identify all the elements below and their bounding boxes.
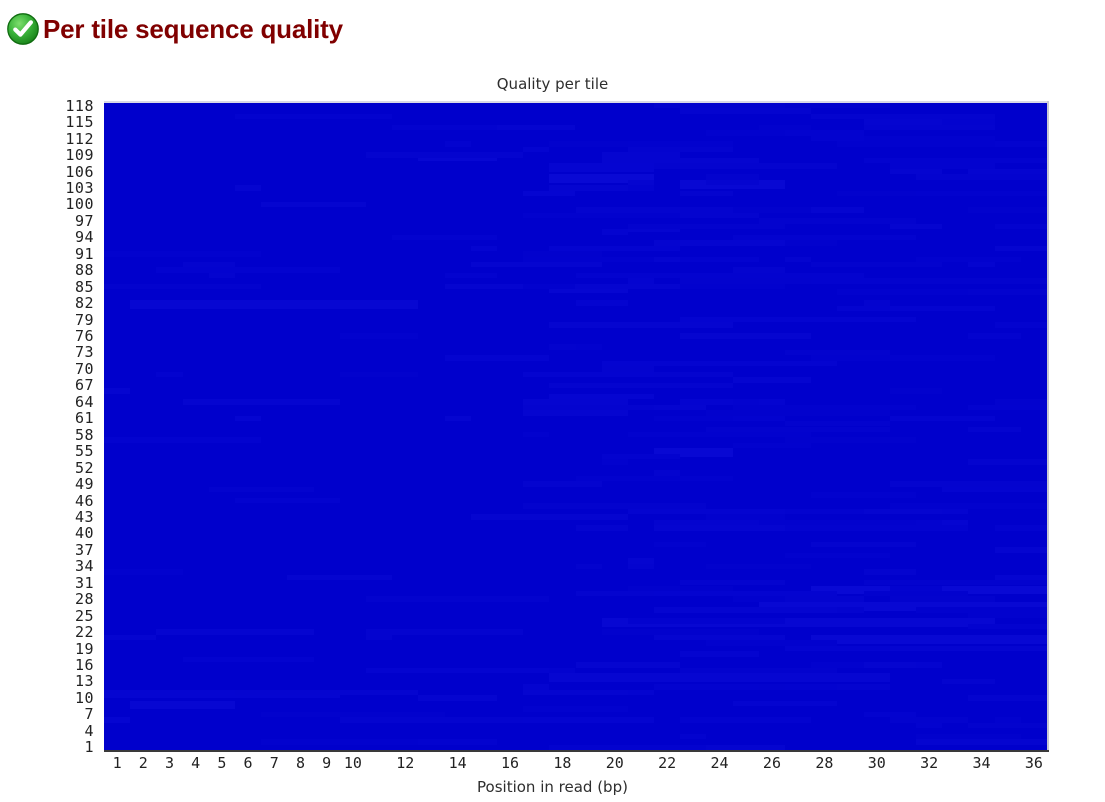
heatmap-cell: [418, 739, 497, 744]
heatmap-cell: [628, 141, 733, 146]
heatmap-cell: [235, 498, 340, 503]
heatmap-cell: [392, 235, 497, 240]
heatmap-cell: [549, 322, 732, 327]
heatmap-cell: [680, 333, 811, 338]
heatmap-cell: [995, 624, 1047, 629]
heatmap-cell: [366, 668, 549, 673]
heatmap-cell: [811, 542, 916, 547]
heatmap-cell: [890, 278, 1047, 283]
heatmap-cell: [837, 141, 994, 146]
heatmap-cell: [156, 267, 339, 272]
heatmap-cell: [366, 629, 523, 634]
heatmap-cell: [130, 300, 418, 309]
page-title: Per tile sequence quality: [43, 16, 343, 42]
heatmap-cell: [523, 251, 602, 256]
heatmap-cell: [785, 240, 837, 245]
x-axis-tick: 4: [191, 754, 200, 772]
heatmap-cell: [602, 229, 628, 234]
heatmap-cell: [680, 717, 811, 722]
x-axis-tick: 10: [344, 754, 362, 772]
x-axis-label: Position in read (bp): [0, 778, 1105, 796]
heatmap-cell: [890, 163, 995, 168]
x-axis-tick: 14: [449, 754, 467, 772]
heatmap-cell: [497, 125, 576, 130]
y-axis-tick: 22: [75, 623, 94, 641]
heatmap-cell: [261, 202, 366, 207]
heatmap-cell: [549, 383, 732, 388]
x-axis: 1234567891012141618202224262830323436: [104, 754, 1047, 780]
heatmap-cell: [706, 180, 758, 185]
x-axis-tick: 8: [296, 754, 305, 772]
x-axis-tick: 34: [972, 754, 990, 772]
heatmap-cell: [523, 717, 654, 722]
heatmap-cell: [733, 701, 838, 706]
heatmap-cell: [733, 267, 785, 272]
x-axis-tick: 5: [217, 754, 226, 772]
x-axis-tick: 18: [553, 754, 571, 772]
heatmap-cell: [235, 416, 261, 421]
heatmap-cell: [968, 695, 1047, 700]
heatmap-cell: [235, 185, 261, 190]
heatmap-cell: [576, 525, 628, 530]
heatmap-cell: [785, 553, 890, 558]
y-axis-tick: 58: [75, 426, 94, 444]
heatmap-cell: [209, 273, 235, 278]
heatmap-cell: [654, 257, 680, 262]
y-axis-tick: 109: [65, 146, 94, 164]
heatmap-cell: [995, 322, 1047, 327]
heatmap-cell: [445, 141, 471, 146]
y-axis-tick: 7: [84, 705, 94, 723]
heatmap-cell: [733, 443, 812, 448]
heatmap-cell: [523, 191, 575, 196]
heatmap-cell: [942, 679, 994, 684]
x-axis-tick: 1: [113, 754, 122, 772]
heatmap-cell: [183, 399, 340, 404]
x-axis-tick: 28: [815, 754, 833, 772]
per-tile-quality-figure: Quality per tile 11811511210910610310097…: [0, 60, 1105, 802]
heatmap-cell: [864, 509, 943, 514]
heatmap-cell: [706, 130, 785, 135]
heatmap-cell: [733, 399, 759, 404]
y-axis-tick: 115: [65, 113, 94, 131]
y-axis-tick: 49: [75, 475, 94, 493]
heatmap-cell: [576, 344, 602, 349]
y-axis-tick: 55: [75, 442, 94, 460]
y-axis-tick: 10: [75, 689, 94, 707]
heatmap-cell: [576, 591, 655, 596]
heatmap-cell: [523, 503, 706, 508]
x-axis-tick: 9: [322, 754, 331, 772]
heatmap-cell: [680, 734, 706, 739]
y-axis-tick: 91: [75, 245, 94, 263]
heatmap-cell: [916, 723, 942, 728]
heatmap-cell: [890, 481, 1047, 486]
heatmap-cell: [995, 525, 1047, 530]
heatmap-cell: [759, 684, 785, 689]
x-axis-tick: 7: [270, 754, 279, 772]
heatmap-cell: [837, 191, 916, 196]
heatmap-cell: [890, 596, 995, 601]
heatmap-cell: [523, 372, 654, 377]
heatmap-cell: [680, 257, 759, 262]
heatmap-cell: [864, 125, 995, 130]
y-axis-tick: 70: [75, 360, 94, 378]
y-axis-tick: 64: [75, 393, 94, 411]
heatmap-cell: [811, 317, 916, 322]
heatmap-cell: [104, 635, 156, 640]
heatmap-cell: [628, 147, 733, 152]
heatmap-cell: [811, 635, 1047, 644]
heatmap-cell: [916, 607, 1047, 612]
x-axis-tick: 24: [711, 754, 729, 772]
heatmap-cell: [654, 684, 837, 689]
y-axis-tick: 118: [65, 97, 94, 115]
chart-title: Quality per tile: [0, 75, 1105, 93]
heatmap-cell: [811, 355, 994, 360]
heatmap-cell: [968, 624, 994, 629]
heatmap-cell: [680, 580, 785, 585]
heatmap-cell: [968, 207, 1047, 212]
heatmap-cell: [104, 437, 261, 442]
y-axis-tick: 100: [65, 195, 94, 213]
heatmap-cell: [235, 690, 418, 695]
heatmap-cell: [968, 262, 994, 267]
heatmap-cell: [471, 246, 497, 251]
y-axis-tick: 1: [84, 738, 94, 756]
heatmap-cell: [156, 372, 182, 377]
y-axis-tick: 106: [65, 163, 94, 181]
heatmap-cell: [864, 136, 995, 141]
heatmap-cell: [628, 432, 811, 437]
heatmap-cell: [890, 224, 942, 229]
heatmap-cell: [445, 273, 497, 278]
heatmap-cell: [287, 575, 392, 580]
heatmap-cell: [628, 224, 785, 229]
heatmap-plot-area[interactable]: [104, 103, 1047, 750]
heatmap-cell: [890, 416, 995, 421]
green-check-circle-icon: [6, 12, 40, 46]
heatmap-cell: [549, 163, 654, 172]
y-axis-tick: 46: [75, 492, 94, 510]
x-axis-tick: 12: [396, 754, 414, 772]
heatmap-cell: [733, 361, 838, 366]
y-axis-tick: 31: [75, 574, 94, 592]
y-axis-tick: 85: [75, 278, 94, 296]
heatmap-cell: [104, 717, 130, 722]
x-axis-tick: 22: [658, 754, 676, 772]
heatmap-cell: [942, 487, 1047, 492]
heatmap-cell: [628, 618, 785, 623]
y-axis-tick: 73: [75, 343, 94, 361]
heatmap-cell: [706, 514, 785, 519]
x-axis-tick: 36: [1025, 754, 1043, 772]
heatmap-cell: [811, 492, 916, 497]
heatmap-cell: [837, 306, 994, 311]
heatmap-cell: [890, 388, 942, 393]
heatmap-cell: [995, 547, 1047, 552]
heatmap-cell: [968, 723, 1047, 728]
heatmap-cell: [576, 564, 602, 569]
heatmap-cell: [968, 333, 1020, 338]
y-axis-tick: 4: [84, 722, 94, 740]
y-axis-tick: 82: [75, 294, 94, 312]
heatmap-cell: [366, 596, 549, 601]
heatmap-cell: [261, 739, 444, 744]
heatmap-cell: [654, 470, 680, 475]
x-axis-tick: 3: [165, 754, 174, 772]
heatmap-cell: [995, 224, 1047, 229]
heatmap-cell: [916, 520, 942, 525]
heatmap-cell: [445, 355, 550, 360]
heatmap-cell: [654, 607, 837, 612]
y-axis-tick: 25: [75, 607, 94, 625]
x-axis-tick: 6: [244, 754, 253, 772]
heatmap-cell: [366, 635, 392, 640]
heatmap-cell: [706, 427, 889, 432]
heatmap-cell: [602, 366, 654, 371]
heatmap-cell: [706, 564, 758, 569]
heatmap-cell: [785, 596, 864, 601]
heatmap-cell: [811, 262, 942, 267]
heatmap-cell: [235, 114, 392, 119]
heatmap-cell: [968, 613, 1047, 618]
heatmap-cell: [680, 191, 732, 196]
heatmap-cell: [890, 586, 942, 591]
heatmap-cell: [785, 646, 890, 651]
heatmap-cell: [759, 520, 916, 525]
heatmap-cell: [366, 152, 523, 157]
heatmap-cell: [654, 542, 706, 547]
heatmap-cell: [602, 454, 681, 459]
heatmap-cell: [340, 372, 419, 377]
heatmap-cell: [785, 525, 968, 530]
heatmap-cell: [968, 427, 1020, 432]
heatmap-cell: [654, 372, 733, 377]
heatmap-cell: [576, 207, 733, 212]
heatmap-cell: [523, 147, 549, 152]
heatmap-cell: [445, 416, 471, 421]
heatmap-cell: [733, 416, 785, 421]
x-axis-tick: 30: [868, 754, 886, 772]
heatmap-cell: [104, 251, 261, 256]
y-axis-tick: 76: [75, 327, 94, 345]
heatmap-cell: [680, 668, 837, 673]
heatmap-cell: [968, 405, 1047, 410]
plot-border-right: [1047, 101, 1049, 752]
heatmap-cell: [628, 564, 654, 569]
heatmap-cell: [104, 284, 261, 289]
heatmap-cell: [759, 125, 811, 130]
x-axis-line: [104, 750, 1049, 752]
heatmap-cell: [549, 668, 575, 673]
heatmap-cell: [654, 163, 837, 168]
y-axis-tick: 28: [75, 590, 94, 608]
heatmap-cell: [968, 289, 1047, 294]
heatmap-cell: [680, 108, 811, 113]
y-axis-tick: 37: [75, 541, 94, 559]
heatmap-cell: [811, 207, 863, 212]
heatmap-cell: [890, 646, 1047, 651]
heatmap-cell: [576, 662, 681, 667]
heatmap-cell: [471, 514, 628, 519]
heatmap-cell: [968, 459, 1047, 464]
heatmap-cell: [733, 377, 812, 382]
heatmap-cell: [785, 257, 811, 262]
heatmap-cell: [602, 459, 628, 464]
y-axis-tick: 88: [75, 261, 94, 279]
heatmap-cell: [340, 333, 419, 338]
heatmap-cell: [209, 487, 314, 492]
heatmap-cell: [995, 575, 1047, 580]
heatmap-cell: [995, 246, 1047, 251]
heatmap-cell: [523, 432, 549, 437]
heatmap-cell: [628, 180, 654, 185]
heatmap-cell: [340, 717, 523, 722]
heatmap-cell: [680, 278, 811, 283]
y-axis: 1181151121091061031009794918885827976737…: [0, 103, 98, 750]
y-axis-tick: 103: [65, 179, 94, 197]
y-axis-tick: 34: [75, 557, 94, 575]
heatmap-cell: [916, 174, 1047, 179]
heatmap-cell: [523, 257, 654, 262]
heatmap-cell: [654, 525, 785, 530]
heatmap-cell: [654, 635, 785, 640]
heatmap-cell: [549, 673, 890, 682]
heatmap-cell: [602, 284, 681, 289]
heatmap-cell: [523, 690, 628, 695]
y-axis-tick: 94: [75, 228, 94, 246]
heatmap-cell: [183, 657, 314, 662]
x-axis-tick: 20: [606, 754, 624, 772]
heatmap-cell: [811, 114, 994, 119]
heatmap-cell: [864, 569, 916, 574]
heatmap-cell: [523, 284, 575, 289]
heatmap-cell: [471, 262, 602, 267]
y-axis-tick: 43: [75, 508, 94, 526]
heatmap-cell: [523, 481, 602, 486]
heatmap-cell: [576, 300, 628, 305]
heatmap-cell: [418, 695, 497, 700]
heatmap-cell: [995, 141, 1047, 146]
module-header: Per tile sequence quality: [0, 0, 1105, 44]
heatmap-cell: [104, 388, 130, 393]
y-axis-tick: 16: [75, 656, 94, 674]
y-axis-tick: 67: [75, 376, 94, 394]
y-axis-tick: 40: [75, 524, 94, 542]
y-axis-tick: 61: [75, 409, 94, 427]
heatmap-cell: [680, 651, 759, 656]
heatmap-cell: [549, 394, 654, 399]
heatmap-cell: [156, 629, 313, 634]
y-axis-tick: 52: [75, 459, 94, 477]
heatmap-cell: [916, 739, 1047, 744]
heatmap-cell: [183, 262, 235, 267]
heatmap-cell: [968, 191, 1047, 196]
y-axis-tick: 13: [75, 672, 94, 690]
heatmap-cell: [523, 410, 628, 415]
heatmap-cell: [785, 130, 864, 135]
heatmap-cell: [104, 569, 183, 574]
heatmap-cell: [523, 213, 680, 218]
y-axis-tick: 19: [75, 640, 94, 658]
y-axis-tick: 79: [75, 311, 94, 329]
x-axis-tick: 16: [501, 754, 519, 772]
y-axis-tick: 112: [65, 130, 94, 148]
heatmap-cell: [130, 701, 235, 710]
heatmap-cell: [864, 662, 916, 667]
y-axis-tick: 97: [75, 212, 94, 230]
x-axis-tick: 2: [139, 754, 148, 772]
x-axis-tick: 26: [763, 754, 781, 772]
heatmap-cell: [523, 706, 628, 711]
x-axis-tick: 32: [920, 754, 938, 772]
